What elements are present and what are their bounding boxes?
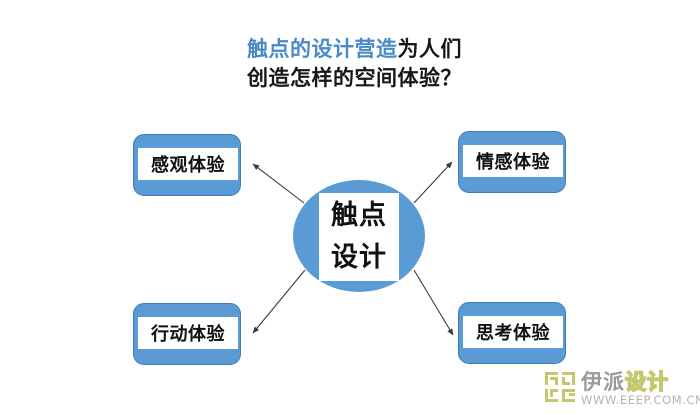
node-box-top-right[interactable]: 情感体验 [458, 131, 566, 193]
title-line-1: 触点的设计营造为人们 [247, 35, 567, 64]
page-title: 触点的设计营造为人们 创造怎样的空间体验？ [247, 35, 567, 93]
title-plain-text: 为人们 [398, 37, 463, 61]
node-label: 感观体验 [151, 151, 225, 177]
node-box-bottom-left[interactable]: 行动体验 [133, 303, 241, 365]
node-box-bottom-right[interactable]: 思考体验 [458, 302, 566, 364]
node-label: 思考体验 [476, 319, 550, 345]
title-line-2: 创造怎样的空间体验？ [247, 64, 567, 93]
watermark-brand-solid: 伊派 [581, 366, 625, 396]
center-label-line-2: 设计 [331, 237, 387, 279]
node-label-container: 感观体验 [138, 148, 238, 180]
center-node[interactable]: 触点 设计 [293, 180, 425, 292]
watermark-url: WWW.EEEP.COM.CN [581, 393, 700, 407]
watermark-brand: 伊派设计 [581, 369, 669, 393]
eeep-logo-icon [545, 372, 575, 402]
node-label: 情感体验 [476, 148, 550, 174]
node-label-container: 行动体验 [138, 317, 238, 349]
center-label-box: 触点 设计 [319, 193, 399, 281]
title-accent-text: 触点的设计营造 [247, 37, 398, 61]
node-label: 行动体验 [151, 320, 225, 346]
node-label-container: 情感体验 [463, 145, 563, 177]
node-box-top-left[interactable]: 感观体验 [133, 134, 241, 196]
watermark: 伊派设计 WWW.EEEP.COM.CN [545, 371, 695, 411]
center-label-line-1: 触点 [331, 195, 387, 237]
node-label-container: 思考体验 [463, 316, 563, 348]
watermark-brand-outline: 设计 [625, 366, 669, 396]
slide-canvas: 触点的设计营造为人们 创造怎样的空间体验？ 触点 设计 感观体验 情感体验 [0, 0, 700, 415]
